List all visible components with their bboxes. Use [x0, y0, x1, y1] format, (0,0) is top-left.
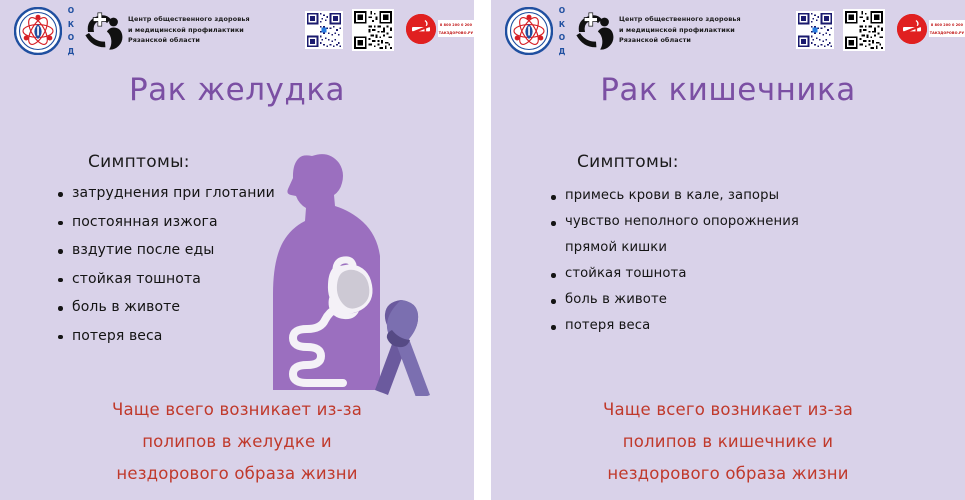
footer-note: Чаще всего возникает из-за полипов в киш…	[491, 394, 965, 491]
no-smoking-contact: 8 800 200 0 200 ТАКЗДОРОВО.РУ	[929, 20, 965, 37]
okod-letters: О К О Д	[64, 7, 78, 55]
note-line: нездорового образа жизни	[491, 458, 965, 490]
symptoms-heading: Симптомы:	[577, 152, 679, 172]
list-item: примесь крови в кале, запоры	[551, 188, 841, 203]
poster-pair: О К О Д Центр общественного здоровья и м…	[0, 0, 965, 500]
note-line: Чаще всего возникает из-за	[0, 394, 474, 426]
note-line: нездорового образа жизни	[0, 458, 474, 490]
qr-code-1[interactable]	[305, 11, 343, 49]
center-name-line: Центр общественного здоровья	[128, 14, 268, 25]
page-title: Рак желудка	[0, 72, 474, 108]
qr-code-1-image	[798, 13, 832, 47]
symptoms-list: примесь крови в кале, запоры чувство неп…	[551, 188, 841, 344]
poster-bowel-cancer: О К О Д Центр общественного здоровья и м…	[491, 0, 965, 500]
public-health-center-logo	[82, 10, 126, 50]
list-item: боль в животе	[551, 292, 841, 307]
qr-code-2[interactable]	[352, 9, 394, 51]
hotline-phone: 8 800 200 0 200	[929, 20, 965, 28]
list-item: потеря веса	[551, 318, 841, 333]
poster-header: О К О Д Центр общественного здоровья и м…	[0, 0, 474, 60]
okod-letter: О	[559, 7, 565, 15]
no-smoking-badge: 8 800 200 0 200 ТАКЗДОРОВО.РУ	[406, 14, 474, 44]
no-smoking-contact: 8 800 200 0 200 ТАКЗДОРОВО.РУ	[438, 20, 474, 37]
okod-letter: О	[68, 34, 74, 42]
no-smoking-badge: 8 800 200 0 200 ТАКЗДОРОВО.РУ	[897, 14, 965, 44]
poster-header: О К О Д Центр общественного здоровья и м…	[491, 0, 965, 60]
page-title: Рак кишечника	[491, 72, 965, 108]
no-smoking-icon	[897, 14, 927, 44]
okod-letter: К	[559, 21, 565, 29]
note-line: полипов в кишечнике и	[491, 426, 965, 458]
center-name-line: Рязанской области	[128, 35, 268, 46]
okod-letter: О	[559, 34, 565, 42]
okod-letters: О К О Д	[555, 7, 569, 55]
okod-letter: О	[68, 7, 74, 15]
list-item: чувство неполного опорожнения	[551, 214, 841, 229]
no-smoking-icon	[406, 14, 436, 44]
okod-emblem	[505, 7, 553, 55]
no-smoking-glyph	[897, 14, 927, 44]
okod-letter: К	[68, 21, 74, 29]
hotline-site: ТАКЗДОРОВО.РУ	[929, 28, 965, 36]
hotline-phone: 8 800 200 0 200	[438, 20, 474, 28]
qr-code-2-image	[845, 11, 883, 49]
poster-stomach-cancer: О К О Д Центр общественного здоровья и м…	[0, 0, 474, 500]
hotline-site: ТАКЗДОРОВО.РУ	[438, 28, 474, 36]
list-item: стойкая тошнота	[551, 266, 841, 281]
qr-code-2-image	[354, 11, 392, 49]
center-name-line: и медицинской профилактики	[619, 25, 759, 36]
qr-code-1-image	[307, 13, 341, 47]
okod-letter: Д	[559, 48, 566, 56]
okod-emblem	[14, 7, 62, 55]
center-name: Центр общественного здоровья и медицинск…	[128, 14, 268, 46]
public-health-center-logo	[573, 10, 617, 50]
center-name-line: и медицинской профилактики	[128, 25, 268, 36]
center-name: Центр общественного здоровья и медицинск…	[619, 14, 759, 46]
list-item-continuation: прямой кишки	[551, 240, 841, 255]
okod-letter: Д	[68, 48, 75, 56]
footer-note: Чаще всего возникает из-за полипов в жел…	[0, 394, 474, 491]
note-line: Чаще всего возникает из-за	[491, 394, 965, 426]
qr-code-1[interactable]	[796, 11, 834, 49]
no-smoking-glyph	[406, 14, 436, 44]
qr-code-2[interactable]	[843, 9, 885, 51]
purple-awareness-ribbon	[370, 292, 432, 396]
center-name-line: Центр общественного здоровья	[619, 14, 759, 25]
center-name-line: Рязанской области	[619, 35, 759, 46]
symptoms-heading: Симптомы:	[88, 152, 190, 172]
note-line: полипов в желудке и	[0, 426, 474, 458]
